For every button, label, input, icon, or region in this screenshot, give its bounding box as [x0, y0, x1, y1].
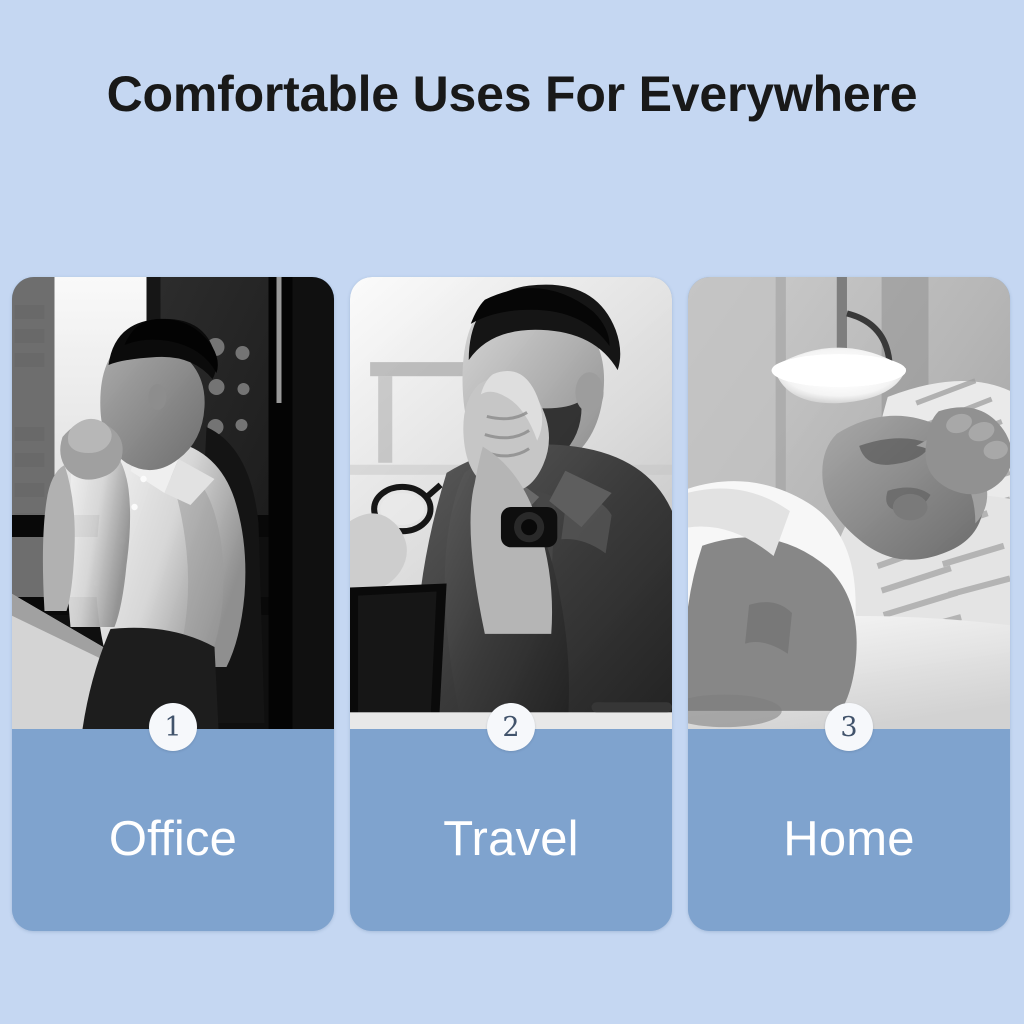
step-badge-2: 2	[487, 703, 535, 751]
page-title: Comfortable Uses For Everywhere	[0, 66, 1024, 122]
use-case-card-row: Office 1	[12, 277, 1010, 931]
use-case-card-office[interactable]: Office 1	[12, 277, 334, 931]
use-case-card-home[interactable]: Home 3	[688, 277, 1010, 931]
travel-label-panel: Travel	[350, 729, 672, 931]
card-label-office: Office	[12, 811, 334, 867]
step-number-3: 3	[840, 714, 857, 741]
office-label-panel: Office	[12, 729, 334, 931]
use-case-card-travel[interactable]: Travel 2	[350, 277, 672, 931]
step-number-1: 1	[164, 714, 181, 741]
office-photo	[12, 277, 334, 729]
step-number-2: 2	[502, 714, 519, 741]
step-badge-3: 3	[825, 703, 873, 751]
card-label-travel: Travel	[350, 811, 672, 867]
travel-photo	[350, 277, 672, 729]
card-label-home: Home	[688, 811, 1010, 867]
step-badge-1: 1	[149, 703, 197, 751]
home-label-panel: Home	[688, 729, 1010, 931]
promo-banner: Comfortable Uses For Everywhere	[0, 0, 1024, 1024]
home-photo	[688, 277, 1010, 729]
